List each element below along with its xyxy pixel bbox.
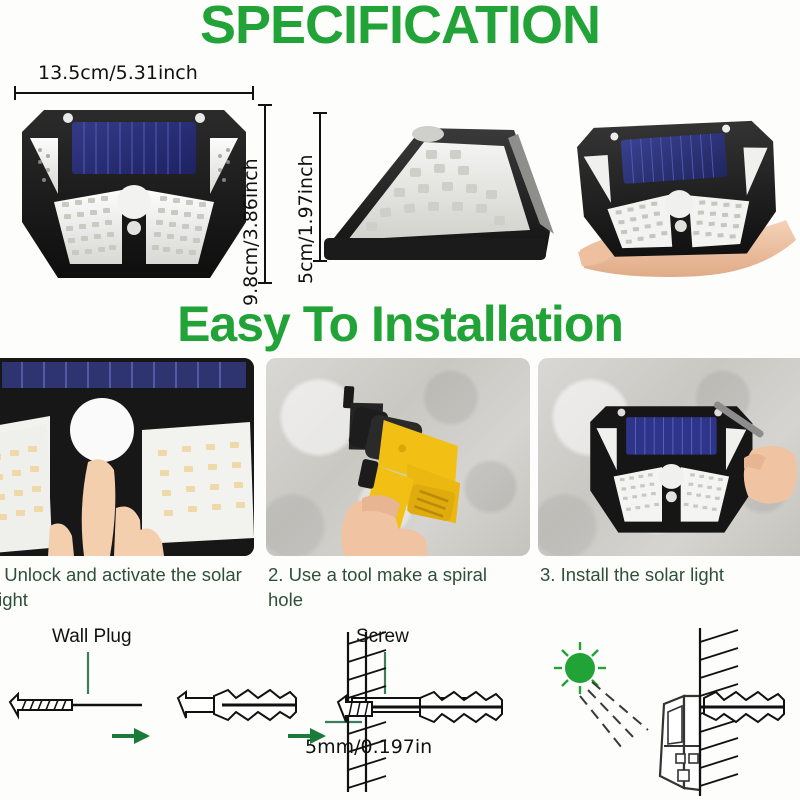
step-1-image <box>0 358 254 556</box>
dimension-depth-label: 5cm/1.97inch <box>295 154 317 284</box>
product-side-view <box>318 112 558 272</box>
wall-plug-right-icon <box>700 692 784 722</box>
dimension-height-line <box>264 104 266 284</box>
step-1-caption: . Unlock and activate the solar light <box>0 562 244 612</box>
step-3-image <box>538 358 800 556</box>
step-2-caption: 2. Use a tool make a spiral hole <box>268 562 513 612</box>
installation-title: Easy To Installation <box>0 294 800 354</box>
installation-captions: . Unlock and activate the solar light 2.… <box>0 562 800 618</box>
product-in-hand-view <box>560 100 800 290</box>
sun-rays-icon <box>580 682 648 748</box>
dimension-height-label: 9.8cm/3.86inch <box>240 158 262 306</box>
step-3-caption: 3. Install the solar light <box>540 562 800 587</box>
step-2-image <box>266 358 530 556</box>
dimension-width-line <box>14 92 254 94</box>
product-front-view <box>14 102 254 287</box>
product-spec-page: SPECIFICATION 13.5cm/5.31inch <box>0 0 800 800</box>
mounted-light-icon <box>660 696 700 790</box>
dimension-width-label: 13.5cm/5.31inch <box>38 62 198 84</box>
specification-title: SPECIFICATION <box>0 0 800 56</box>
installation-steps-images <box>0 358 800 558</box>
specification-section: 13.5cm/5.31inch <box>0 60 800 290</box>
mounting-diagrams: Wall Plug Screw 5mm/0.197in <box>0 618 800 800</box>
